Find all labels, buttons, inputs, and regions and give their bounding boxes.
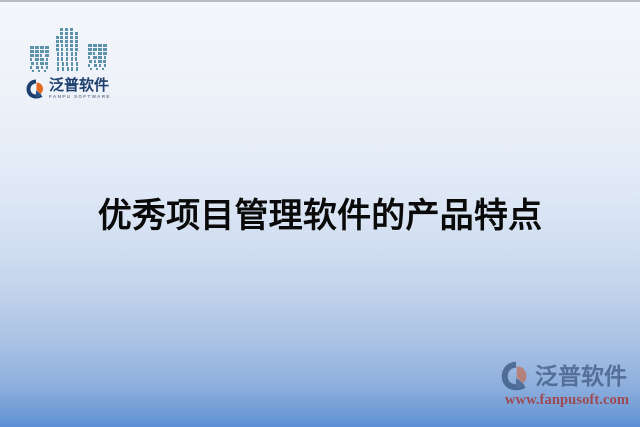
slide-title: 优秀项目管理软件的产品特点	[0, 188, 640, 237]
presentation-slide: 泛普软件 FANPU SOFTWARE 优秀项目管理软件的产品特点 泛普软件 w…	[0, 0, 640, 427]
fanpu-skyline-icon	[26, 26, 118, 76]
fanpu-swirl-mark	[26, 79, 46, 99]
watermark-url: www.fanpusoft.com	[501, 392, 633, 409]
brand-name-cn: 泛普软件	[49, 78, 111, 93]
brand-name-en: FANPU SOFTWARE	[49, 95, 111, 100]
watermark: 泛普软件 www.fanpusoft.com	[501, 361, 633, 409]
watermark-name-cn: 泛普软件	[535, 365, 627, 388]
brand-lockup: 泛普软件 FANPU SOFTWARE	[26, 78, 111, 100]
watermark-lockup: 泛普软件	[501, 361, 633, 391]
corporate-logo: 泛普软件 FANPU SOFTWARE	[26, 26, 118, 108]
fanpu-swirl-mark	[501, 361, 531, 391]
